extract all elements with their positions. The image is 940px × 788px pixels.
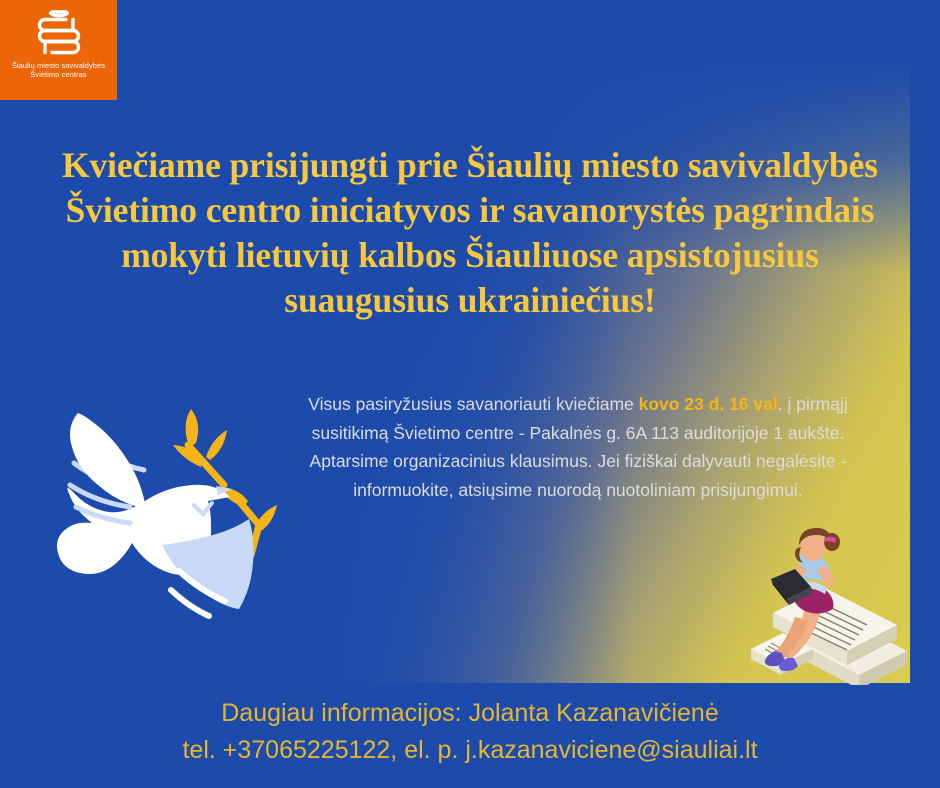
peace-dove-icon bbox=[38, 385, 290, 635]
footer-line-1: Daugiau informacijos: Jolanta Kazanaviči… bbox=[40, 695, 900, 732]
organization-logo: Šiaulių miesto savivaldybės Švietimo cen… bbox=[0, 0, 117, 100]
body-paragraph: Visus pasiryžusius savanoriauti kviečiam… bbox=[288, 390, 868, 504]
contact-footer: Daugiau informacijos: Jolanta Kazanaviči… bbox=[40, 695, 900, 769]
body-part-1: Visus pasiryžusius savanoriauti kviečiam… bbox=[308, 394, 638, 414]
logo-caption: Šiaulių miesto savivaldybės Švietimo cen… bbox=[12, 61, 105, 80]
footer-line-2: tel. +37065225122, el. p. j.kazanavicien… bbox=[40, 732, 900, 769]
event-datetime-highlight: kovo 23 d. 16 val bbox=[639, 394, 778, 414]
page-title: Kviečiame prisijungti prie Šiaulių miest… bbox=[50, 143, 890, 323]
poster-canvas: Šiaulių miesto savivaldybės Švietimo cen… bbox=[0, 0, 940, 788]
education-centre-logo-icon bbox=[28, 6, 90, 58]
woman-reading-on-books-icon bbox=[735, 525, 920, 685]
